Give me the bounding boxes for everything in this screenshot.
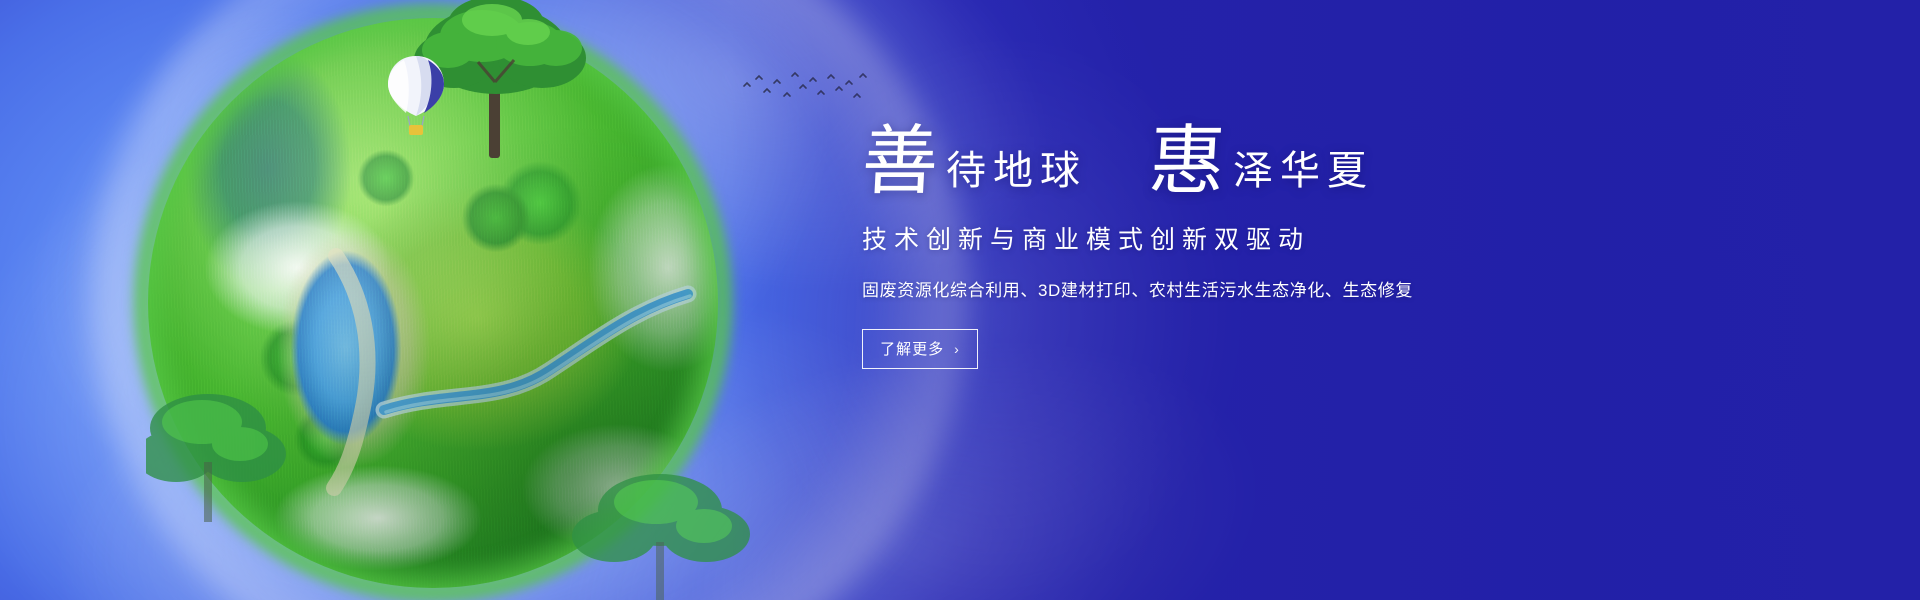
chevron-right-icon: › [954,342,960,356]
headline-phrase2-primary: 惠 [1147,128,1227,198]
hero-copy: 善 待地球 惠 泽华夏 技术创新与商业模式创新双驱动 固废资源化综合利用、3D建… [862,128,1682,369]
hero-subtitle: 技术创新与商业模式创新双驱动 [862,220,1682,256]
headline-phrase2-secondary: 泽华夏 [1225,151,1374,198]
learn-more-button[interactable]: 了解更多 › [862,329,978,369]
hero-banner: 善 待地球 惠 泽华夏 技术创新与商业模式创新双驱动 固废资源化综合利用、3D建… [0,0,1920,600]
learn-more-label: 了解更多 [880,338,944,359]
headline-phrase1-secondary: 待地球 [938,151,1087,198]
page-title: 善 待地球 惠 泽华夏 [862,128,1682,198]
hero-description: 固废资源化综合利用、3D建材打印、农村生活污水生态净化、生态修复 [862,276,1682,301]
headline-phrase1-primary: 善 [860,128,940,198]
